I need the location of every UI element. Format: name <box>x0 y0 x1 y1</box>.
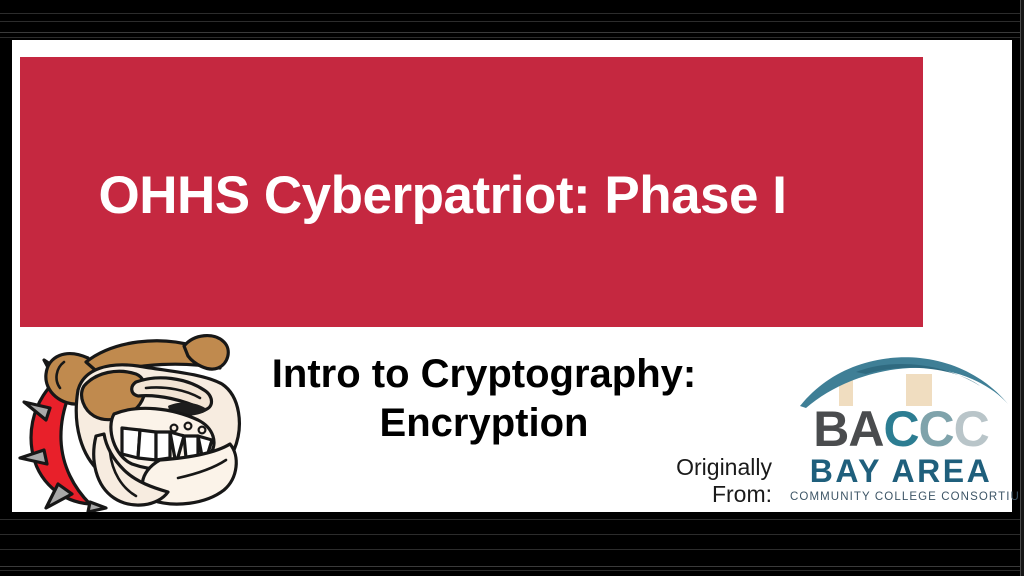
baccc-region-label: BAY AREA <box>790 455 1012 487</box>
baccc-logo: BACCC BAY AREA COMMUNITY COLLEGE CONSORT… <box>790 352 1012 512</box>
baccc-acronym-ba: BA <box>813 401 883 457</box>
letterbox-scanline-bottom-4 <box>0 566 1024 567</box>
title-banner: OHHS Cyberpatriot: Phase I <box>20 57 923 327</box>
slide-subtitle: Intro to Cryptography: Encryption <box>224 350 744 448</box>
baccc-tagline: COMMUNITY COLLEGE CONSORTIUM <box>790 492 1012 504</box>
video-letterbox-viewer: OHHS Cyberpatriot: Phase I Intro to Cryp… <box>0 0 1024 576</box>
baccc-acronym-c3: C <box>954 401 989 457</box>
baccc-acronym-c1: C <box>883 401 918 457</box>
letterbox-scanline-bottom-3 <box>0 549 1024 550</box>
letterbox-scanline-top-4 <box>0 37 1024 38</box>
letterbox-scanline-top-1 <box>0 13 1024 14</box>
subtitle-line-1: Intro to Cryptography: <box>224 350 744 399</box>
bulldog-mascot-icon <box>18 332 250 512</box>
letterbox-scanline-bottom-5 <box>0 570 1024 571</box>
attribution-line-2: From: <box>572 481 772 508</box>
letterbox-scanline-bottom-1 <box>0 519 1024 520</box>
baccc-acronym-c2: C <box>919 401 954 457</box>
page-title: OHHS Cyberpatriot: Phase I <box>20 169 923 222</box>
baccc-acronym: BACCC <box>790 404 1012 454</box>
letterbox-scanline-top-3 <box>0 32 1024 33</box>
letterbox-scanline-bottom-2 <box>0 534 1024 535</box>
attribution-line-1: Originally <box>572 454 772 481</box>
letterbox-scanline-top-2 <box>0 21 1024 22</box>
presentation-slide: OHHS Cyberpatriot: Phase I Intro to Cryp… <box>12 40 1012 512</box>
subtitle-line-2: Encryption <box>224 399 744 448</box>
attribution-text: Originally From: <box>572 454 772 508</box>
